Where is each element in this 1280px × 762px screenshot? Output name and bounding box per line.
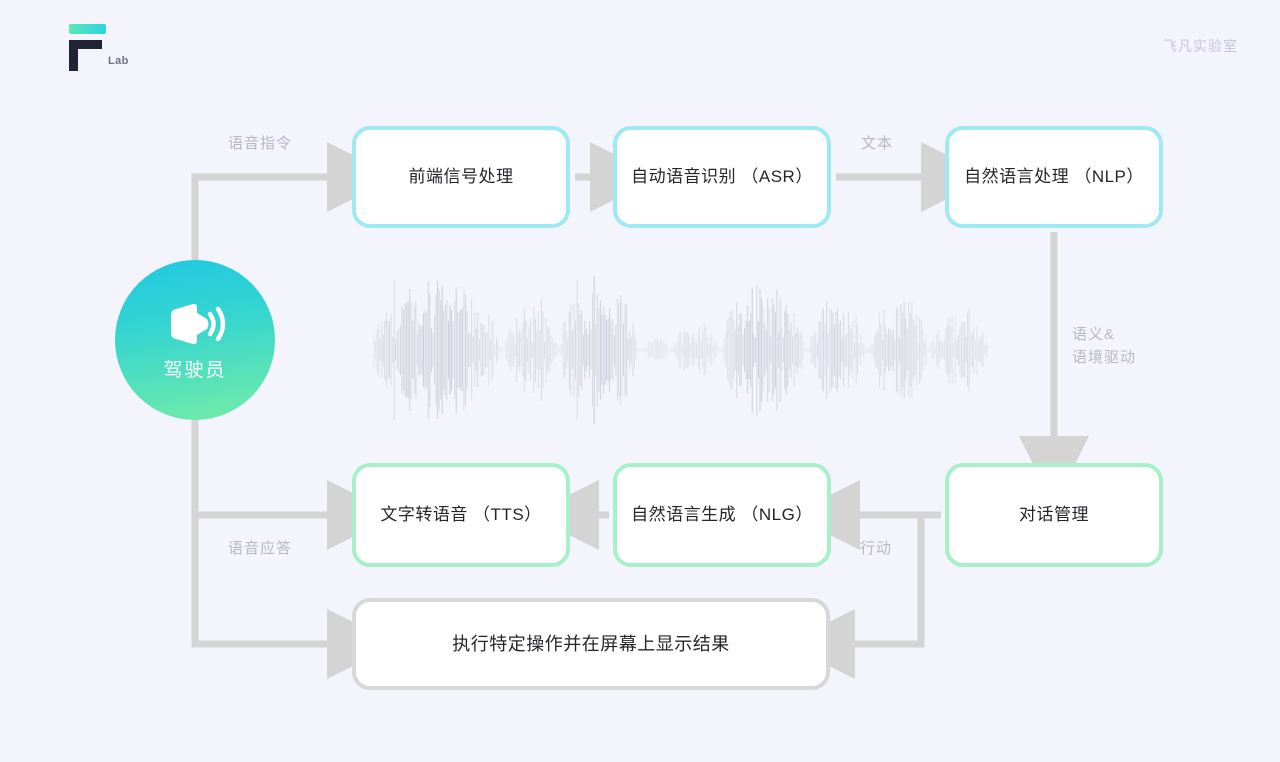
node-dialogue-management[interactable]: 对话管理	[945, 463, 1163, 567]
voice-speaker-icon	[163, 299, 227, 349]
edge-label-semantic: 语义& 语境驱动	[1072, 324, 1136, 369]
driver-label: 驾驶员	[163, 355, 226, 382]
brand-label: 飞凡实验室	[1163, 36, 1238, 56]
audio-waveform	[372, 276, 988, 424]
node-front-end-signal-processing[interactable]: 前端信号处理	[352, 126, 570, 228]
edge-label-voice-command: 语音指令	[228, 133, 292, 156]
node-text-to-speech[interactable]: 文字转语音 （TTS）	[352, 463, 570, 567]
logo: Lab	[64, 24, 184, 72]
diagram-canvas: Lab 飞凡实验室	[0, 0, 1280, 762]
logo-gamma-top-icon	[69, 40, 102, 49]
node-natural-language-generation[interactable]: 自然语言生成 （NLG）	[613, 463, 831, 567]
edge-label-voice-reply: 语音应答	[228, 538, 292, 561]
logo-text: Lab	[108, 55, 129, 67]
edge-label-text: 文本	[861, 133, 893, 156]
node-automatic-speech-recognition[interactable]: 自动语音识别 （ASR）	[613, 126, 831, 228]
node-execute-action[interactable]: 执行特定操作并在屏幕上显示结果	[352, 598, 830, 690]
node-natural-language-processing[interactable]: 自然语言处理 （NLP）	[945, 126, 1163, 228]
logo-gradient-bar-icon	[69, 24, 106, 34]
edge-label-action: 行动	[860, 538, 892, 561]
driver-node[interactable]: 驾驶员	[115, 260, 275, 420]
